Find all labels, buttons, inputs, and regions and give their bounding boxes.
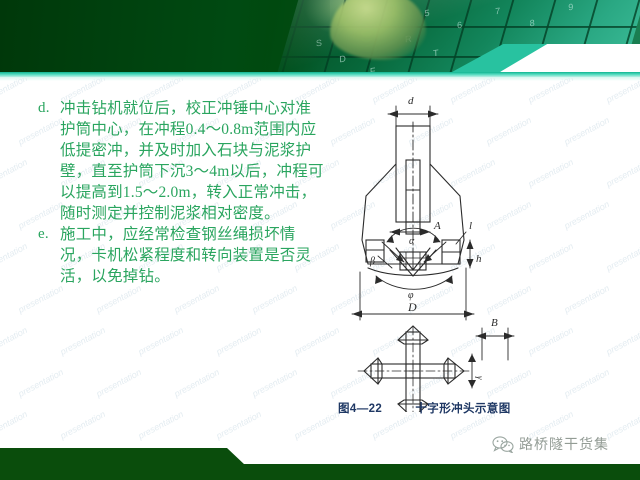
figure-title: 十字形冲头示意图 (415, 403, 510, 415)
header-teal-rule-fade (0, 77, 640, 81)
watermark-text: presentation (293, 409, 341, 441)
paragraph-marker: e. (38, 224, 49, 245)
watermark-text: presentation (215, 409, 263, 441)
paragraph-text: 冲击钻机就位后，校正冲锤中心对准护筒中心，在冲程0.4～0.8m范围内应低提密冲… (60, 98, 324, 224)
watermark-text: presentation (251, 283, 299, 315)
watermark-text: presentation (0, 325, 29, 357)
footer-bar-left (0, 448, 225, 480)
technical-drawing: d A α β l h φ D B γ (330, 92, 630, 412)
watermark-text: presentation (173, 367, 221, 399)
label-B: B (491, 317, 498, 329)
footer-bar-right (243, 464, 640, 480)
label-l: l (469, 220, 472, 232)
watermark-text: presentation (59, 325, 107, 357)
watermark-text: presentation (137, 409, 185, 441)
header-dark-overlay (0, 0, 330, 72)
slide-canvas: S D F R T 5 6 7 8 9 presentationpresenta… (0, 0, 640, 480)
label-gamma: γ (475, 376, 485, 380)
watermark-text: presentation (0, 157, 29, 189)
watermark-text: presentation (0, 409, 29, 441)
wechat-watermark: 路桥隧干货集 (492, 434, 609, 454)
header-band: S D F R T 5 6 7 8 9 (0, 0, 640, 72)
figure-number: 图4—22 (338, 403, 382, 415)
watermark-text: presentation (0, 78, 29, 105)
label-beta: β (369, 256, 375, 267)
watermark-text: presentation (0, 241, 29, 273)
watermark-text: presentation (215, 325, 263, 357)
watermark-text: presentation (59, 409, 107, 441)
label-A: A (433, 220, 441, 232)
watermark-text: presentation (95, 367, 143, 399)
hand-on-keyboard (330, 0, 426, 60)
watermark-text: presentation (17, 367, 65, 399)
watermark-text: presentation (95, 283, 143, 315)
watermark-text: presentation (407, 451, 455, 452)
wechat-icon (492, 435, 514, 453)
paragraph-marker: d. (38, 98, 50, 119)
label-h: h (476, 253, 482, 265)
label-alpha: α (409, 236, 415, 247)
body-paragraph-e: e. 施工中，应经常检查钢丝绳损坏情况，卡机松紧程度和转向装置是否灵活，以免掉钻… (38, 224, 324, 287)
slide-body-text: d. 冲击钻机就位后，校正冲锤中心对准护筒中心，在冲程0.4～0.8m范围内应低… (38, 98, 324, 287)
watermark-text: presentation (605, 409, 640, 441)
watermark-text: presentation (251, 367, 299, 399)
paragraph-text: 施工中，应经常检查钢丝绳损坏情况，卡机松紧程度和转向装置是否灵活，以免掉钻。 (60, 224, 324, 287)
watermark-text: presentation (137, 325, 185, 357)
watermark-text: presentation (17, 283, 65, 315)
label-d: d (408, 95, 414, 107)
figure-caption: 图4—22 十字形冲头示意图 (338, 400, 598, 416)
watermark-text: presentation (329, 451, 377, 452)
footer-bar-notch (205, 448, 245, 480)
wechat-label: 路桥隧干货集 (519, 434, 609, 454)
label-D: D (407, 300, 417, 314)
watermark-text: presentation (173, 283, 221, 315)
drill-bit-diagram: d A α β l h φ D B γ (330, 92, 630, 412)
body-paragraph-d: d. 冲击钻机就位后，校正冲锤中心对准护筒中心，在冲程0.4～0.8m范围内应低… (38, 98, 324, 224)
watermark-text: presentation (251, 451, 299, 452)
